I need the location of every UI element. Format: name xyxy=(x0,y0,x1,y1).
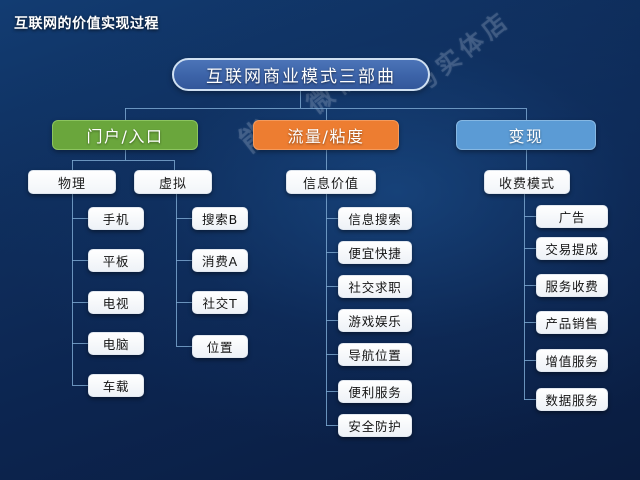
leaf-node[interactable]: 便利服务 xyxy=(338,380,412,403)
connector-green-left xyxy=(72,160,73,170)
leaf-node[interactable]: 电脑 xyxy=(88,332,144,355)
connector-shoufei-stub xyxy=(524,285,536,286)
connector-wuli-stub xyxy=(72,218,88,219)
connector-shoufei-spine xyxy=(524,194,525,400)
leaf-node[interactable]: 位置 xyxy=(192,335,248,358)
group-node-info-value[interactable]: 信息价值 xyxy=(286,170,376,194)
connector-xuni-stub xyxy=(176,302,192,303)
connector-orange-stem xyxy=(326,150,327,170)
connector-wuli-stub xyxy=(72,343,88,344)
leaf-node[interactable]: 消费A xyxy=(192,249,248,272)
slide-canvas: 互联网的价值实现过程 能 微信 与实体店 互联网商业模式三部曲 门户/ xyxy=(0,0,640,480)
leaf-node[interactable]: 游戏娱乐 xyxy=(338,309,412,332)
connector-xinxi-stub xyxy=(326,425,338,426)
leaf-node[interactable]: 电视 xyxy=(88,291,144,314)
group-node-virtual[interactable]: 虚拟 xyxy=(134,170,212,194)
page-title: 互联网的价值实现过程 xyxy=(14,13,159,33)
leaf-node[interactable]: 搜索B xyxy=(192,207,248,230)
connector-xuni-stub xyxy=(176,260,192,261)
leaf-node[interactable]: 手机 xyxy=(88,207,144,230)
root-node[interactable]: 互联网商业模式三部曲 xyxy=(172,58,430,91)
connector-to-orange xyxy=(326,108,327,120)
connector-xinxi-stub xyxy=(326,354,338,355)
leaf-node[interactable]: 社交求职 xyxy=(338,275,412,298)
connector-xinxi-stub xyxy=(326,252,338,253)
leaf-node[interactable]: 交易提成 xyxy=(536,237,608,260)
connector-shoufei-stub xyxy=(524,322,536,323)
group-node-physical[interactable]: 物理 xyxy=(28,170,116,194)
branch-node-portal[interactable]: 门户/入口 xyxy=(52,120,198,150)
connector-shoufei-stub xyxy=(524,360,536,361)
connector-xuni-spine xyxy=(176,194,177,346)
connector-green-stem xyxy=(125,150,126,160)
leaf-node[interactable]: 导航位置 xyxy=(338,343,412,366)
connector-xinxi-stub xyxy=(326,286,338,287)
leaf-node[interactable]: 信息搜索 xyxy=(338,207,412,230)
connector-shoufei-stub xyxy=(524,399,536,400)
connector-wuli-stub xyxy=(72,302,88,303)
branch-node-monetize[interactable]: 变现 xyxy=(456,120,596,150)
connector-to-green xyxy=(125,108,126,120)
connector-root-stem xyxy=(300,91,301,108)
leaf-node[interactable]: 安全防护 xyxy=(338,414,412,437)
connector-wuli-stub xyxy=(72,385,88,386)
connector-wuli-spine xyxy=(72,194,73,385)
leaf-node[interactable]: 社交T xyxy=(192,291,248,314)
connector-to-blue xyxy=(526,108,527,120)
leaf-node[interactable]: 便宜快捷 xyxy=(338,241,412,264)
leaf-node[interactable]: 产品销售 xyxy=(536,311,608,334)
leaf-node[interactable]: 增值服务 xyxy=(536,349,608,372)
connector-xuni-stub xyxy=(176,346,192,347)
connector-xuni-stub xyxy=(176,218,192,219)
group-node-charge-model[interactable]: 收费模式 xyxy=(484,170,570,194)
connector-green-bus xyxy=(72,160,174,161)
connector-xinxi-stub xyxy=(326,391,338,392)
leaf-node[interactable]: 数据服务 xyxy=(536,388,608,411)
branch-node-traffic[interactable]: 流量/粘度 xyxy=(253,120,399,150)
leaf-node[interactable]: 服务收费 xyxy=(536,274,608,297)
connector-shoufei-stub xyxy=(524,216,536,217)
connector-xinxi-stub xyxy=(326,320,338,321)
leaf-node[interactable]: 车载 xyxy=(88,374,144,397)
connector-wuli-stub xyxy=(72,260,88,261)
leaf-node[interactable]: 广告 xyxy=(536,205,608,228)
connector-xinxi-stub xyxy=(326,218,338,219)
connector-blue-stem xyxy=(526,150,527,170)
leaf-node[interactable]: 平板 xyxy=(88,249,144,272)
connector-shoufei-stub xyxy=(524,248,536,249)
connector-green-right xyxy=(174,160,175,170)
